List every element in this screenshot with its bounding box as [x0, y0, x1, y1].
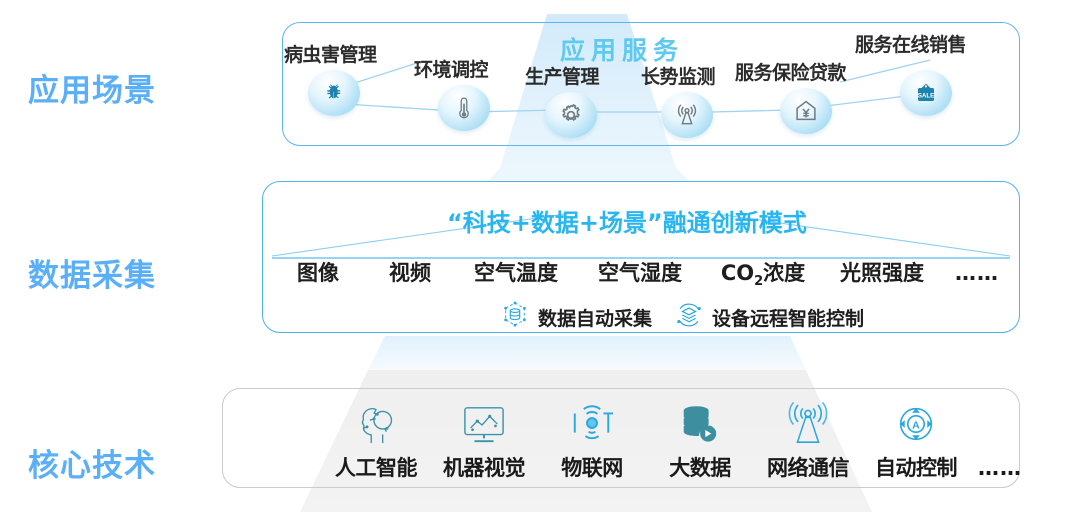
- app-node-label: 服务保险贷款: [735, 58, 846, 85]
- tech-item-iot[interactable]: 物联网: [546, 400, 638, 482]
- layers-sync-icon: [674, 300, 704, 335]
- infographic-canvas: 应用场景 数据采集 核心技术 应用服务 病虫害管理 环境调控: [0, 0, 1080, 512]
- tech-item-machine-vision[interactable]: 机器视觉: [438, 400, 530, 482]
- app-node-production-management[interactable]: 生产管理: [525, 62, 645, 162]
- tech-item-ai[interactable]: 人工智能: [330, 400, 422, 482]
- app-node-online-sales[interactable]: 服务在线销售 SALE: [855, 30, 1005, 140]
- tech-item-label: 物联网: [561, 452, 623, 482]
- tech-item-auto-control[interactable]: A 自动控制: [870, 400, 962, 482]
- data-item: 视频: [364, 257, 456, 287]
- tech-item-label: 人工智能: [335, 452, 417, 482]
- data-feature-label: 设备远程智能控制: [712, 304, 864, 331]
- tech-item-big-data[interactable]: 大数据: [654, 400, 746, 482]
- data-item-ellipsis: ……: [942, 261, 1012, 285]
- auto-control-icon: A: [894, 400, 938, 446]
- app-node-label: 服务在线销售: [855, 30, 966, 57]
- data-layer-title: “科技+数据+场景”融通创新模式: [447, 203, 807, 238]
- tech-item-ellipsis: ……: [978, 456, 1022, 482]
- tech-item-label: 机器视觉: [443, 452, 525, 482]
- co2-prefix: CO: [721, 261, 754, 285]
- app-node-label: 病虫害管理: [284, 40, 377, 67]
- tech-item-list: 人工智能 机器视觉: [330, 400, 1022, 482]
- monitor-chart-icon: [461, 400, 507, 446]
- co2-subscript: 2: [754, 274, 763, 289]
- data-feature-remote-control: 设备远程智能控制: [674, 300, 864, 335]
- sale-tag-icon: SALE: [900, 70, 952, 116]
- data-item: 光照强度: [822, 257, 942, 287]
- svg-text:A: A: [912, 419, 920, 431]
- tech-item-label: 自动控制: [875, 452, 957, 482]
- iot-icon: [569, 400, 615, 446]
- database-network-icon: [500, 300, 530, 335]
- data-feature-list: 数据自动采集 设备远程智能控制: [500, 300, 886, 335]
- app-node-environment-control[interactable]: 环境调控: [414, 55, 534, 155]
- thermometer-icon: [438, 85, 490, 131]
- app-node-label: 生产管理: [525, 62, 599, 89]
- tech-item-network-communication[interactable]: 网络通信: [762, 400, 854, 482]
- data-feature-auto-collection: 数据自动采集: [500, 300, 652, 335]
- bug-icon: [308, 70, 360, 116]
- app-node-insurance-loan[interactable]: 服务保险贷款: [735, 58, 875, 158]
- app-node-pest-management[interactable]: 病虫害管理: [282, 40, 412, 145]
- co2-suffix: 浓度: [763, 261, 805, 285]
- antenna-signal-icon: [785, 400, 831, 446]
- data-feature-label: 数据自动采集: [538, 304, 652, 331]
- svg-text:SALE: SALE: [918, 92, 935, 99]
- data-item: 空气湿度: [576, 257, 704, 287]
- data-item: 空气温度: [456, 257, 576, 287]
- database-play-icon: [678, 400, 722, 446]
- ai-brain-icon: [355, 400, 397, 446]
- data-item: 图像: [272, 257, 364, 287]
- data-item-co2: CO2浓度: [704, 257, 822, 289]
- app-node-label: 长势监测: [641, 62, 715, 89]
- data-item-list: 图像 视频 空气温度 空气湿度 CO2浓度 光照强度 ……: [272, 257, 1012, 289]
- house-yen-icon: [780, 88, 832, 134]
- tech-item-label: 大数据: [669, 452, 731, 482]
- tech-item-label: 网络通信: [767, 452, 849, 482]
- app-node-label: 环境调控: [414, 55, 488, 82]
- gear-icon: [545, 92, 597, 138]
- signal-tower-icon: [661, 92, 713, 138]
